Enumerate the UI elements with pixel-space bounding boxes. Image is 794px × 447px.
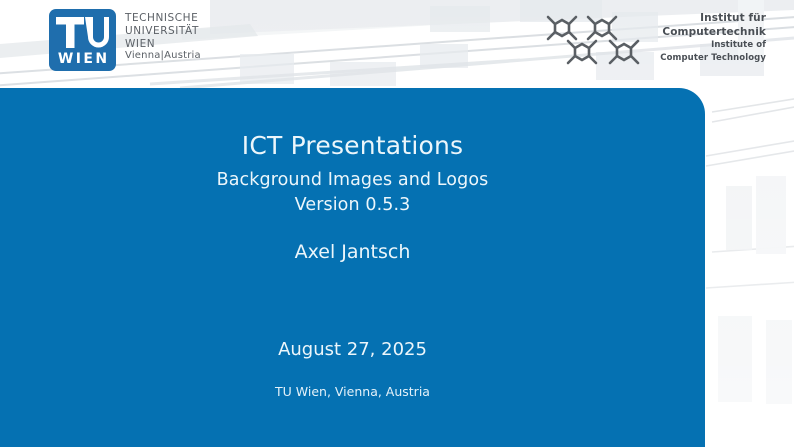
page-subtitle-line-1: Background Images and Logos <box>0 168 705 193</box>
slide-header: WIEN TECHNISCHE UNIVERSITÄT WIEN Vienna|… <box>0 0 794 88</box>
author-affiliation: TU Wien, Vienna, Austria <box>0 384 705 400</box>
author-name: Axel Jantsch <box>0 240 705 264</box>
page-subtitle: Background Images and Logos Version 0.5.… <box>0 168 705 218</box>
ict-logo-text: Institut für Computertechnik Institute o… <box>660 12 766 64</box>
ict-text-line-3: Institute of <box>660 40 766 52</box>
page-title: ICT Presentations <box>0 132 705 160</box>
title-panel: ICT Presentations Background Images and … <box>0 88 705 447</box>
tu-name-line-3: WIEN <box>125 38 201 51</box>
presentation-title-slide: WIEN TECHNISCHE UNIVERSITÄT WIEN Vienna|… <box>0 0 794 447</box>
molecule-network-icon <box>544 12 650 72</box>
title-panel-content: ICT Presentations Background Images and … <box>0 88 705 447</box>
page-subtitle-line-2: Version 0.5.3 <box>0 193 705 218</box>
tu-wien-logo: WIEN TECHNISCHE UNIVERSITÄT WIEN Vienna|… <box>49 9 201 71</box>
presentation-date: August 27, 2025 <box>0 338 705 362</box>
tu-wien-logo-text: TECHNISCHE UNIVERSITÄT WIEN Vienna|Austr… <box>125 9 201 63</box>
tu-monogram-icon <box>49 13 116 51</box>
tu-name-line-4: Vienna|Austria <box>125 50 201 63</box>
tu-wien-logo-wordmark: WIEN <box>49 52 116 67</box>
ict-logo: Institut für Computertechnik Institute o… <box>544 12 766 72</box>
ict-text-line-1: Institut für <box>660 12 766 26</box>
tu-name-line-2: UNIVERSITÄT <box>125 25 201 38</box>
tu-name-line-1: TECHNISCHE <box>125 12 201 25</box>
ict-text-line-2: Computertechnik <box>660 26 766 40</box>
ict-text-line-4: Computer Technology <box>660 53 766 65</box>
tu-wien-logo-mark: WIEN <box>49 9 116 71</box>
